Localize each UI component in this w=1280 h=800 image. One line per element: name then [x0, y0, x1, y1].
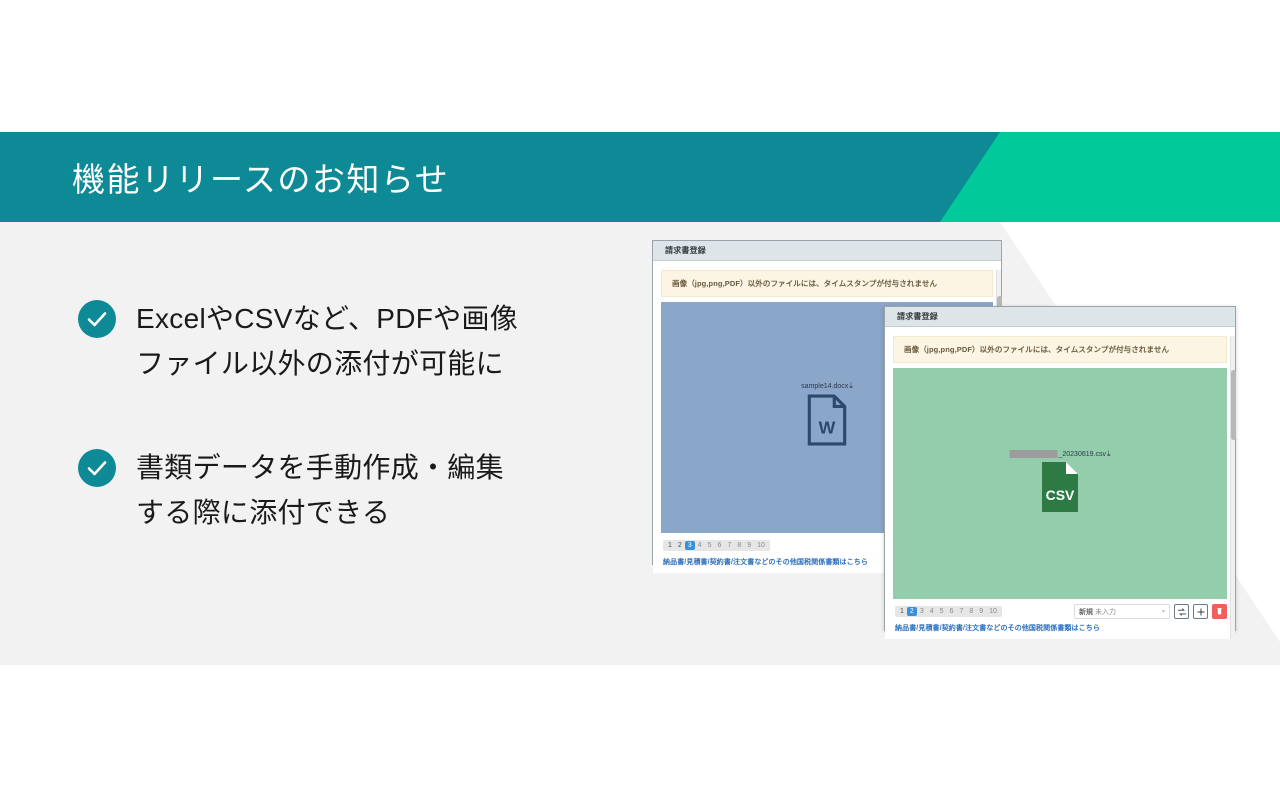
redaction-bar: [1009, 450, 1057, 458]
scrollbar-thumb[interactable]: [1231, 370, 1236, 440]
file-preview-area[interactable]: CSV _20230619.csv ⤓: [893, 368, 1227, 606]
add-button[interactable]: [1193, 604, 1208, 619]
pagination[interactable]: 12345678910: [895, 606, 1002, 617]
page-number[interactable]: 5: [705, 541, 715, 550]
check-circle-icon: [78, 449, 116, 487]
page-number[interactable]: 8: [734, 541, 744, 550]
page-number[interactable]: 9: [976, 607, 986, 616]
page-number[interactable]: 10: [754, 541, 768, 550]
svg-text:CSV: CSV: [1046, 487, 1075, 503]
text-line: ファイル以外の添付が可能に: [136, 348, 504, 379]
status-select-value: 未入力: [1095, 609, 1116, 616]
text-line: ExcelやCSVなど、PDFや画像: [136, 303, 518, 334]
window-title: 請求書登録: [897, 311, 938, 322]
page-number[interactable]: 4: [927, 607, 937, 616]
list-item: 書類データを手動作成・編集する際に添付できる: [78, 445, 618, 536]
page-number[interactable]: 3: [917, 607, 927, 616]
download-icon[interactable]: ⤓: [849, 382, 853, 390]
list-item-label: 書類データを手動作成・編集する際に添付できる: [136, 445, 504, 536]
delete-button[interactable]: [1212, 604, 1227, 619]
page-number[interactable]: 2: [907, 607, 917, 616]
header-banner: 機能リリースのお知らせ: [0, 132, 1280, 222]
page-number[interactable]: 5: [937, 607, 947, 616]
window-title: 請求書登録: [665, 245, 706, 256]
window-footer: 12345678910 新規 未入力 ▾: [885, 599, 1235, 639]
check-circle-icon: [78, 300, 116, 338]
timestamp-notice: 画像（jpg,png,PDF）以外のファイルには、タイムスタンプが付与されません: [893, 336, 1227, 363]
page-number[interactable]: 2: [675, 541, 685, 550]
vertical-scrollbar[interactable]: [1230, 336, 1235, 639]
svg-text:W: W: [819, 417, 836, 437]
page-number[interactable]: 1: [897, 607, 907, 616]
file-name-text: sample14.docx: [801, 383, 848, 390]
status-select-label: 新規: [1079, 609, 1093, 616]
other-documents-link[interactable]: 納品書/見積書/契約書/注文書などのその他国税関係書類はこちら: [895, 623, 1227, 633]
window-titlebar: 請求書登録: [885, 307, 1235, 327]
pagination-row: 12345678910 新規 未入力 ▾: [895, 604, 1227, 619]
page-number[interactable]: 7: [956, 607, 966, 616]
page-number[interactable]: 1: [665, 541, 675, 550]
timestamp-notice: 画像（jpg,png,PDF）以外のファイルには、タイムスタンプが付与されません: [661, 270, 993, 297]
page-number[interactable]: 3: [685, 541, 695, 550]
feature-list: ExcelやCSVなど、PDFや画像ファイル以外の添付が可能に 書類データを手動…: [78, 296, 618, 535]
file-name-text: _20230619.csv: [1058, 451, 1105, 458]
page-number[interactable]: 7: [724, 541, 734, 550]
file-name-label: _20230619.csv ⤓: [1009, 450, 1110, 458]
page-number[interactable]: 4: [695, 541, 705, 550]
slide-canvas: 機能リリースのお知らせ ExcelやCSVなど、PDFや画像ファイル以外の添付が…: [0, 0, 1280, 800]
status-select[interactable]: 新規 未入力 ▾: [1074, 604, 1170, 619]
csv-document-icon: CSV: [1038, 460, 1082, 514]
page-number[interactable]: 9: [744, 541, 754, 550]
text-line: する際に添付できる: [136, 497, 390, 528]
page-number[interactable]: 8: [966, 607, 976, 616]
page-number[interactable]: 6: [947, 607, 957, 616]
footer-controls: 新規 未入力 ▾: [1074, 604, 1227, 619]
window-titlebar: 請求書登録: [653, 241, 1001, 261]
window-body: 画像（jpg,png,PDF）以外のファイルには、タイムスタンプが付与されません…: [885, 336, 1235, 639]
pagination[interactable]: 12345678910: [663, 540, 770, 551]
page-number[interactable]: 6: [715, 541, 725, 550]
text-line: 書類データを手動作成・編集: [136, 452, 504, 483]
page-number[interactable]: 10: [986, 607, 1000, 616]
app-window-front[interactable]: 請求書登録 画像（jpg,png,PDF）以外のファイルには、タイムスタンプが付…: [884, 306, 1236, 631]
list-item-label: ExcelやCSVなど、PDFや画像ファイル以外の添付が可能に: [136, 296, 518, 387]
file-name-label: sample14.docx ⤓: [801, 382, 853, 390]
download-icon[interactable]: ⤓: [1107, 450, 1111, 458]
page-title: 機能リリースのお知らせ: [72, 153, 449, 201]
rotate-button[interactable]: [1174, 604, 1189, 619]
word-document-icon: W: [806, 394, 848, 446]
chevron-down-icon: ▾: [1162, 608, 1165, 615]
list-item: ExcelやCSVなど、PDFや画像ファイル以外の添付が可能に: [78, 296, 618, 387]
